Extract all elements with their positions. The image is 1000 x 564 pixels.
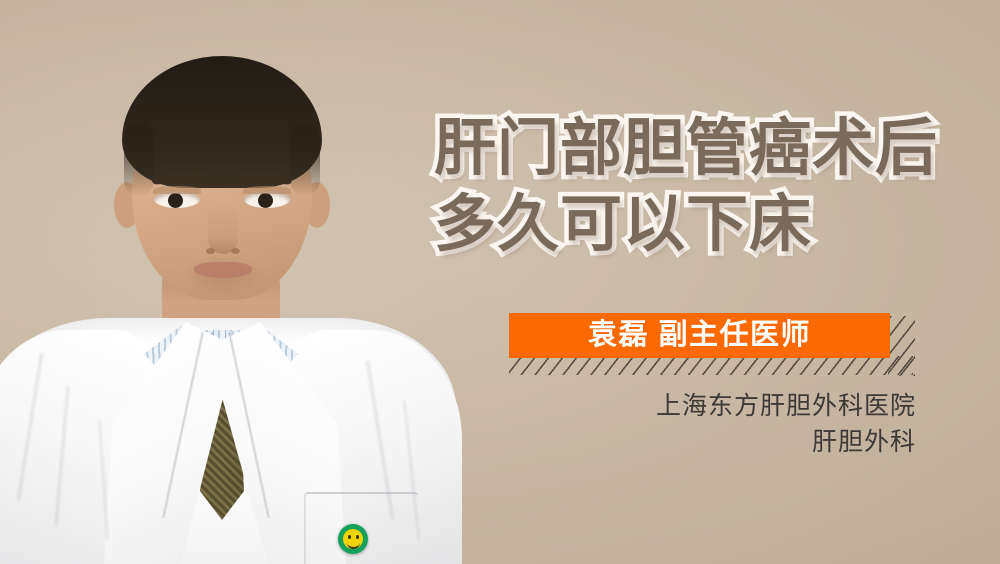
smiley-eye-left bbox=[348, 535, 351, 539]
presenter-affiliation: 上海东方肝胆外科医院 肝胆外科 bbox=[656, 389, 916, 459]
nostril-right bbox=[231, 248, 240, 254]
nose bbox=[208, 204, 238, 254]
nostril-left bbox=[206, 248, 215, 254]
head bbox=[122, 56, 322, 308]
smiley-eye-right bbox=[356, 535, 359, 539]
pupil-left bbox=[168, 193, 183, 208]
presenter-name-badge: 袁磊 副主任医师 bbox=[509, 313, 890, 358]
hatch-pattern-under-badge bbox=[509, 356, 913, 375]
department-name: 肝胆外科 bbox=[656, 425, 916, 459]
doctor-portrait bbox=[0, 0, 456, 564]
hair-sideburn-right bbox=[290, 122, 320, 196]
video-thumbnail-card: 肝门部胆管癌术后 多久可以下床 袁磊 副主任医师 上海东方肝胆外科医院 肝胆外科 bbox=[0, 0, 1000, 564]
hospital-name: 上海东方肝胆外科医院 bbox=[656, 389, 916, 423]
smiley-face-pin-icon bbox=[338, 524, 368, 554]
headline-line-2: 多久可以下床 bbox=[434, 188, 968, 262]
headline: 肝门部胆管癌术后 多久可以下床 bbox=[434, 112, 968, 262]
headline-line-1: 肝门部胆管癌术后 bbox=[434, 112, 968, 186]
hair-sideburn-left bbox=[124, 122, 154, 196]
eyelid-left bbox=[153, 186, 201, 194]
presenter-name-and-rank: 袁磊 副主任医师 bbox=[588, 321, 811, 350]
pupil-right bbox=[258, 193, 273, 208]
eyelid-right bbox=[243, 186, 291, 194]
mouth bbox=[194, 262, 252, 278]
smiley-mouth bbox=[347, 540, 360, 549]
hatch-pattern-right-of-badge bbox=[888, 316, 915, 376]
